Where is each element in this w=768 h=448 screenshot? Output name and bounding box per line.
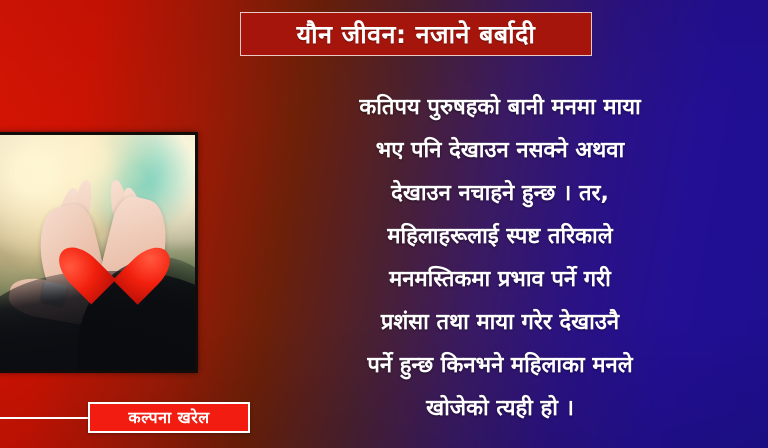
poster-canvas: यौन जीवन: नजाने बर्बादी कतिपय पुरुषहको ब… [0,0,768,448]
author-rule-divider [0,417,100,419]
heart-icon [81,222,148,293]
body-line: प्रशंसा तथा माया गरेर देखाउनै [238,301,762,344]
body-line: महिलाहरूलाई स्पष्ट तरिकाले [238,215,762,258]
body-line: भए पनि देखाउन नसक्ने अथवा [238,129,762,172]
body-line: कतिपय पुरुषहको बानी मनमा माया [238,86,762,129]
body-paragraph: कतिपय पुरुषहको बानी मनमा माया भए पनि देख… [238,86,762,430]
body-line: पर्ने हुन्छ किनभने महिलाका मनले [238,344,762,387]
author-name: कल्पना खरेल [128,410,209,426]
poster-title: यौन जीवन: नजाने बर्बादी [297,22,536,47]
photo-frame [0,132,198,373]
body-line: देखाउन नचाहने हुन्छ । तर, [238,172,762,215]
author-badge: कल्पना खरेल [88,402,250,433]
title-banner: यौन जीवन: नजाने बर्बादी [240,12,592,56]
heart-hands-photo [0,135,195,370]
body-line: मनमस्तिकमा प्रभाव पर्ने गरी [238,258,762,301]
body-line: खोजेको त्यही हो । [238,387,762,430]
